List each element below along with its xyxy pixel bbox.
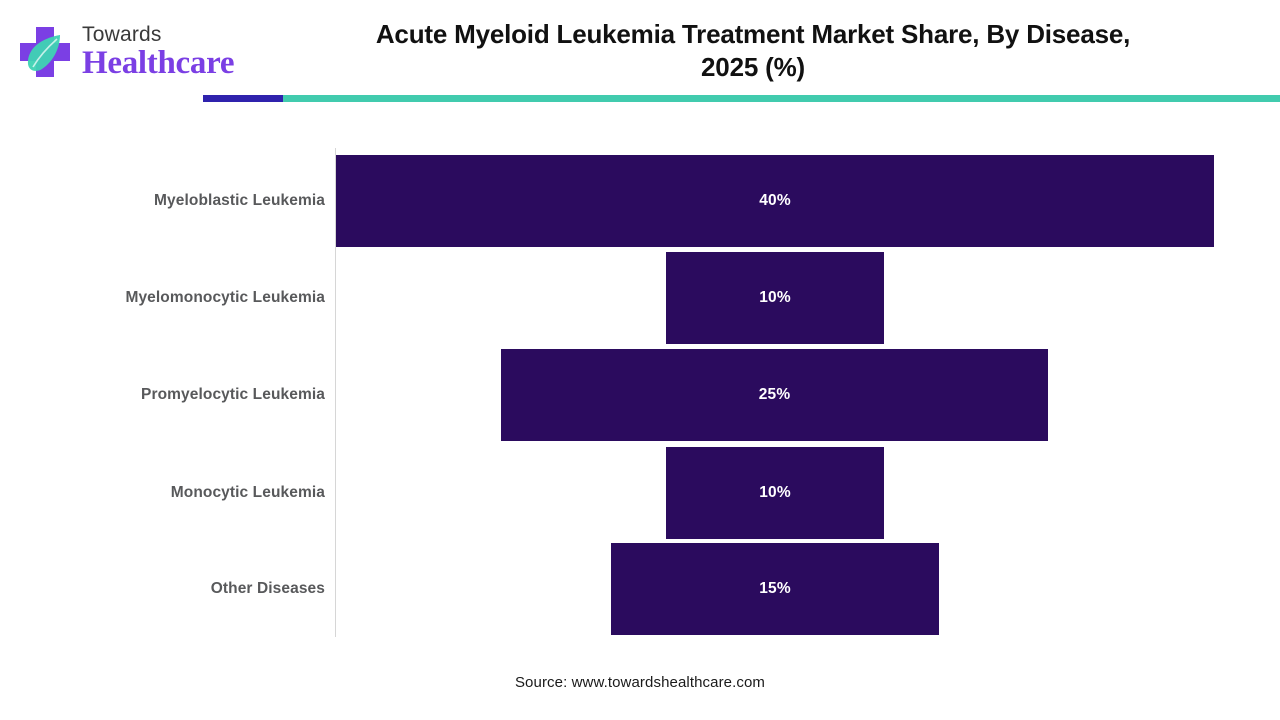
bar-value-label: 25% [759, 386, 791, 404]
bar-myelomonocytic-leukemia[interactable]: 10% [666, 252, 884, 344]
category-label: Myelomonocytic Leukemia [0, 252, 325, 344]
bar-row: Monocytic Leukemia 10% [0, 447, 1280, 539]
brand-wordmark: Towards Healthcare [82, 24, 234, 80]
brand-logo: Towards Healthcare [14, 14, 254, 90]
brand-name-bottom: Healthcare [82, 47, 234, 80]
category-label: Monocytic Leukemia [0, 447, 325, 539]
category-label: Myeloblastic Leukemia [0, 155, 325, 247]
chart-header: Towards Healthcare Acute Myeloid Leukemi… [0, 0, 1280, 104]
header-rule-accent [203, 95, 283, 102]
medical-cross-leaf-icon [14, 21, 76, 83]
bar-value-label: 15% [759, 580, 791, 598]
bar-value-label: 10% [759, 289, 791, 307]
page-title-line-1: Acute Myeloid Leukemia Treatment Market … [268, 18, 1238, 51]
bar-promyelocytic-leukemia[interactable]: 25% [501, 349, 1048, 441]
bar-row: Other Diseases 15% [0, 543, 1280, 635]
category-label: Other Diseases [0, 543, 325, 635]
bar-row: Myelomonocytic Leukemia 10% [0, 252, 1280, 344]
brand-name-top: Towards [82, 24, 234, 45]
header-rule-line [203, 95, 1280, 102]
source-caption: Source: www.towardshealthcare.com [0, 674, 1280, 691]
page-title: Acute Myeloid Leukemia Treatment Market … [268, 18, 1238, 85]
bar-row: Myeloblastic Leukemia 40% [0, 155, 1280, 247]
bar-other-diseases[interactable]: 15% [611, 543, 939, 635]
page-title-line-2: 2025 (%) [268, 51, 1238, 84]
bar-value-label: 10% [759, 484, 791, 502]
bar-value-label: 40% [759, 192, 791, 210]
bar-monocytic-leukemia[interactable]: 10% [666, 447, 884, 539]
bar-row: Promyelocytic Leukemia 25% [0, 349, 1280, 441]
category-label: Promyelocytic Leukemia [0, 349, 325, 441]
bar-chart: Myeloblastic Leukemia 40% Myelomonocytic… [0, 104, 1280, 720]
bar-myeloblastic-leukemia[interactable]: 40% [336, 155, 1214, 247]
